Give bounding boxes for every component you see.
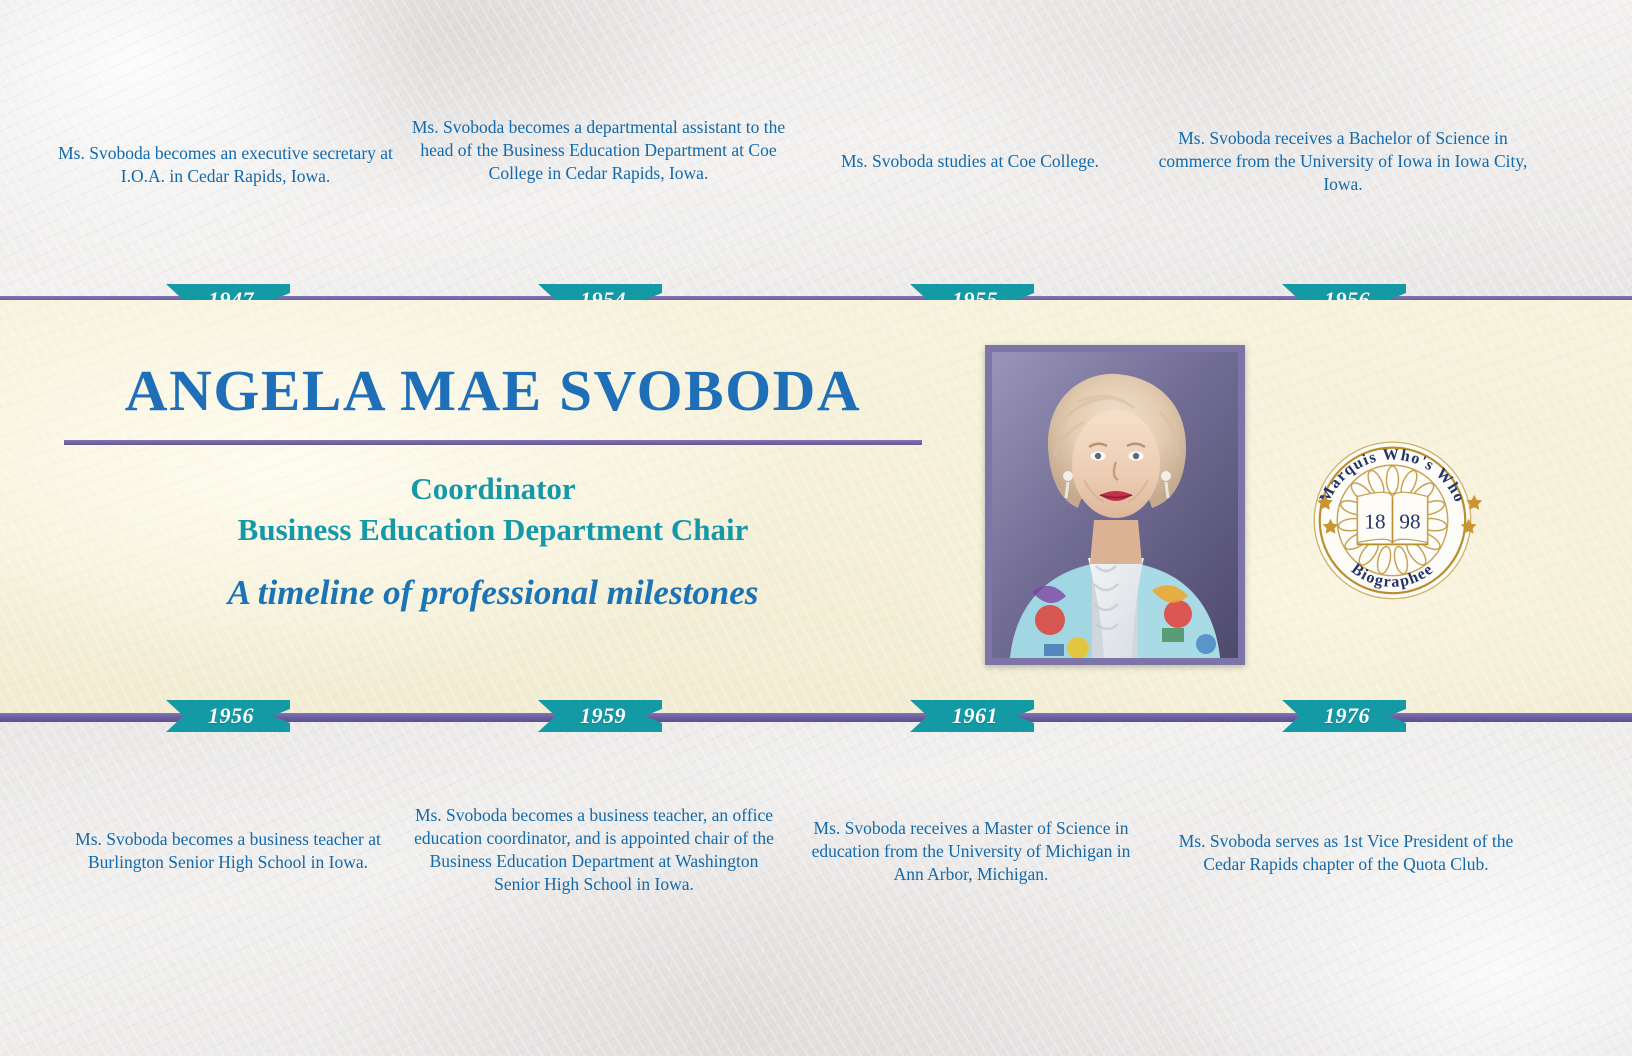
year-flag-1961[interactable]: 1961	[910, 700, 1034, 732]
seal-year-left: 18	[1364, 510, 1385, 534]
tagline: A timeline of professional milestones	[64, 573, 922, 613]
marquis-whos-who-seal: 18 98 Marquis Who's Who Biographee	[1300, 432, 1485, 607]
milestone-caption-top-4: Ms. Svoboda receives a Bachelor of Scien…	[1158, 127, 1528, 196]
profile-header: ANGELA MAE SVOBODA Coordinator Business …	[64, 362, 922, 613]
year-label: 1976	[1318, 705, 1370, 727]
milestone-caption-top-1: Ms. Svoboda becomes an executive secreta…	[38, 142, 413, 188]
milestone-caption-bottom-1: Ms. Svoboda becomes a business teacher a…	[48, 828, 408, 874]
page-title: ANGELA MAE SVOBODA	[55, 362, 930, 420]
open-book-icon: 18 98	[1358, 492, 1428, 544]
milestone-caption-bottom-3: Ms. Svoboda receives a Master of Science…	[795, 817, 1147, 886]
year-label: 1961	[946, 705, 998, 727]
year-flag-1976[interactable]: 1976	[1282, 700, 1406, 732]
portrait-image	[992, 352, 1238, 658]
milestone-caption-top-3: Ms. Svoboda studies at Coe College.	[815, 150, 1125, 173]
year-flag-1959[interactable]: 1959	[538, 700, 662, 732]
year-label: 1956	[202, 705, 254, 727]
role-line-2: Business Education Department Chair	[64, 512, 922, 548]
milestone-caption-bottom-2: Ms. Svoboda becomes a business teacher, …	[408, 804, 780, 896]
seal-graphic: 18 98 Marquis Who's Who Biographee	[1300, 432, 1485, 607]
role-line-1: Coordinator	[64, 471, 922, 507]
portrait-photo	[985, 345, 1245, 665]
year-flag-1956-bottom[interactable]: 1956	[166, 700, 290, 732]
seal-year-right: 98	[1399, 510, 1420, 534]
milestone-caption-top-2: Ms. Svoboda becomes a departmental assis…	[406, 116, 791, 185]
year-label: 1959	[574, 705, 626, 727]
milestone-caption-bottom-4: Ms. Svoboda serves as 1st Vice President…	[1166, 830, 1526, 876]
title-divider	[64, 440, 922, 445]
